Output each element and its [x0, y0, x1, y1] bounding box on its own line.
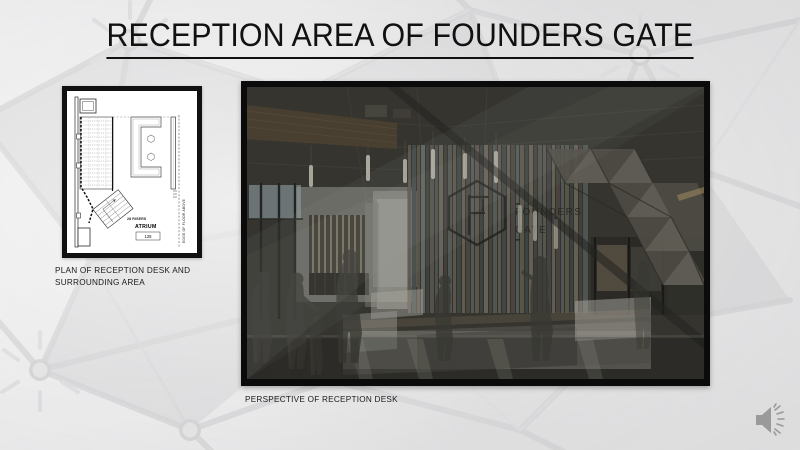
speaker-icon[interactable]	[752, 403, 788, 437]
floor-plan-drawing: 28 RISERS ATRIUM 128 EDGE OF FLOOR ABOVE	[67, 91, 197, 253]
floor-plan-caption-line-2: SURROUNDING AREA	[55, 277, 235, 289]
svg-text:28 RISERS: 28 RISERS	[127, 217, 147, 221]
perspective-render-caption: PERSPECTIVE OF RECEPTION DESK	[245, 395, 398, 404]
svg-text:ATRIUM: ATRIUM	[135, 224, 157, 230]
svg-text:128: 128	[145, 234, 153, 239]
perspective-render-figure[interactable]: 0%#9fb6c4 100%#cdd8dc 0%#4a4640 100%#2a2…	[241, 81, 710, 386]
floor-plan-caption-line-1: PLAN OF RECEPTION DESK AND	[55, 265, 235, 277]
floor-plan-caption: PLAN OF RECEPTION DESK AND SURROUNDING A…	[55, 265, 235, 288]
floor-plan-figure[interactable]: 28 RISERS ATRIUM 128 EDGE OF FLOOR ABOVE	[62, 86, 202, 258]
presentation-slide: RECEPTION AREA OF FOUNDERS GATE	[0, 0, 800, 450]
floor-plan-frame: 28 RISERS ATRIUM 128 EDGE OF FLOOR ABOVE	[62, 86, 202, 258]
page-title: RECEPTION AREA OF FOUNDERS GATE	[107, 15, 694, 59]
svg-text:EDGE OF FLOOR ABOVE: EDGE OF FLOOR ABOVE	[182, 198, 186, 243]
perspective-render-image: 0%#9fb6c4 100%#cdd8dc 0%#4a4640 100%#2a2…	[247, 87, 704, 379]
reception-perspective-svg: 0%#9fb6c4 100%#cdd8dc 0%#4a4640 100%#2a2…	[247, 87, 704, 379]
slide-title-container: RECEPTION AREA OF FOUNDERS GATE	[0, 15, 800, 59]
architectural-plan-svg: 28 RISERS ATRIUM 128 EDGE OF FLOOR ABOVE	[67, 91, 197, 253]
